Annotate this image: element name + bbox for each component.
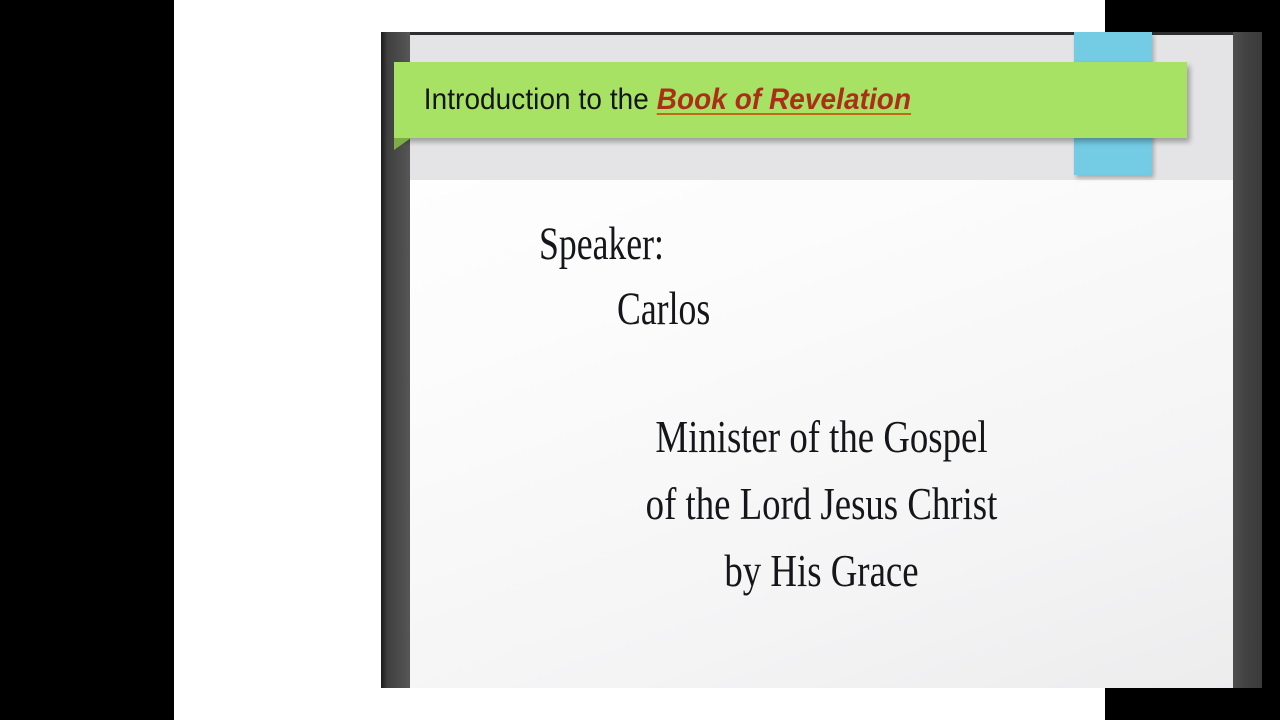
- banner-fold-corner: [394, 138, 411, 150]
- speaker-name: Carlos: [617, 282, 710, 336]
- page-canvas: Introduction to the Book of Revelation S…: [174, 0, 1105, 720]
- title-banner: Introduction to the Book of Revelation: [394, 62, 1187, 138]
- video-stage: Introduction to the Book of Revelation S…: [0, 0, 1280, 720]
- role-line-1: Minister of the Gospel: [492, 410, 1150, 463]
- role-line-3: by His Grace: [492, 544, 1150, 597]
- role-line-2: of the Lord Jesus Christ: [492, 477, 1150, 530]
- speaker-label: Speaker:: [539, 217, 664, 271]
- slide-body: Speaker: Carlos Minister of the Gospel o…: [410, 182, 1233, 688]
- title-emphasis-text: Book of Revelation: [657, 83, 911, 116]
- slide-frame-bar-right: [1233, 32, 1262, 688]
- slide-title: Introduction to the Book of Revelation: [394, 85, 911, 115]
- presentation-slide: Introduction to the Book of Revelation S…: [381, 32, 1262, 688]
- title-plain-text: Introduction to the: [424, 83, 657, 116]
